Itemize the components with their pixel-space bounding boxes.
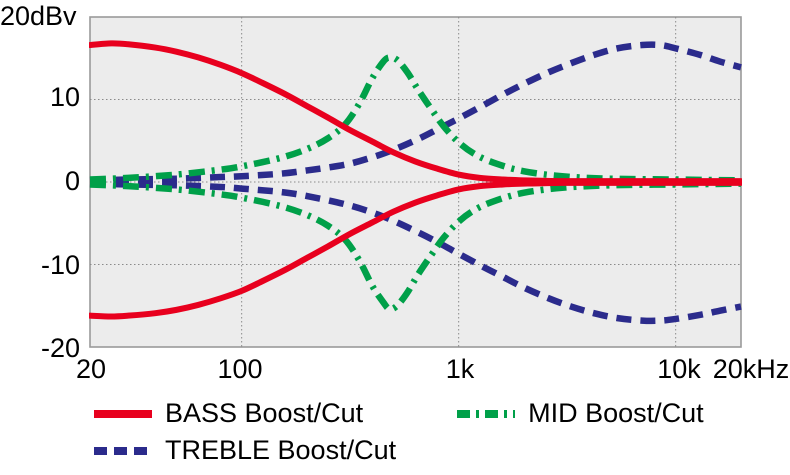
curve-bass-cut bbox=[90, 183, 741, 317]
curve-treble-boost bbox=[90, 45, 741, 181]
eq-response-chart: 20dBv 10 0 -10 -20 20 100 1k 10k 20kHz B… bbox=[0, 0, 790, 475]
x-axis-label-100: 100 bbox=[208, 356, 272, 383]
x-axis-label-10k: 10k bbox=[643, 356, 715, 383]
legend-row-1: BASS Boost/Cut MID Boost/Cut bbox=[94, 400, 704, 427]
legend-swatch-bass bbox=[94, 410, 152, 418]
y-axis-label-10: 10 bbox=[0, 84, 80, 111]
curve-mid-boost bbox=[90, 57, 741, 180]
legend-swatch-treble bbox=[94, 447, 152, 455]
y-axis-label-minus-10: -10 bbox=[0, 252, 80, 279]
legend-item-mid[interactable]: MID Boost/Cut bbox=[457, 400, 704, 427]
legend-row-2: TREBLE Boost/Cut bbox=[94, 437, 396, 464]
legend-label-treble: TREBLE Boost/Cut bbox=[165, 437, 396, 464]
curve-mid-cut bbox=[90, 184, 741, 310]
legend-label-bass: BASS Boost/Cut bbox=[165, 400, 363, 427]
y-axis-label-20dbv: 20dBv bbox=[0, 3, 86, 30]
curve-bass-boost bbox=[90, 43, 741, 181]
curve-treble-cut bbox=[90, 184, 741, 321]
legend-item-treble[interactable]: TREBLE Boost/Cut bbox=[94, 437, 396, 464]
x-axis-label-1k: 1k bbox=[432, 356, 488, 383]
legend-swatch-mid bbox=[457, 410, 515, 418]
plot-background bbox=[90, 17, 741, 347]
legend-item-bass[interactable]: BASS Boost/Cut bbox=[94, 400, 363, 427]
x-axis-label-20: 20 bbox=[68, 356, 114, 383]
y-axis-label-0: 0 bbox=[0, 168, 80, 195]
legend-label-mid: MID Boost/Cut bbox=[528, 400, 704, 427]
x-axis-label-20khz: 20kHz bbox=[709, 356, 790, 383]
